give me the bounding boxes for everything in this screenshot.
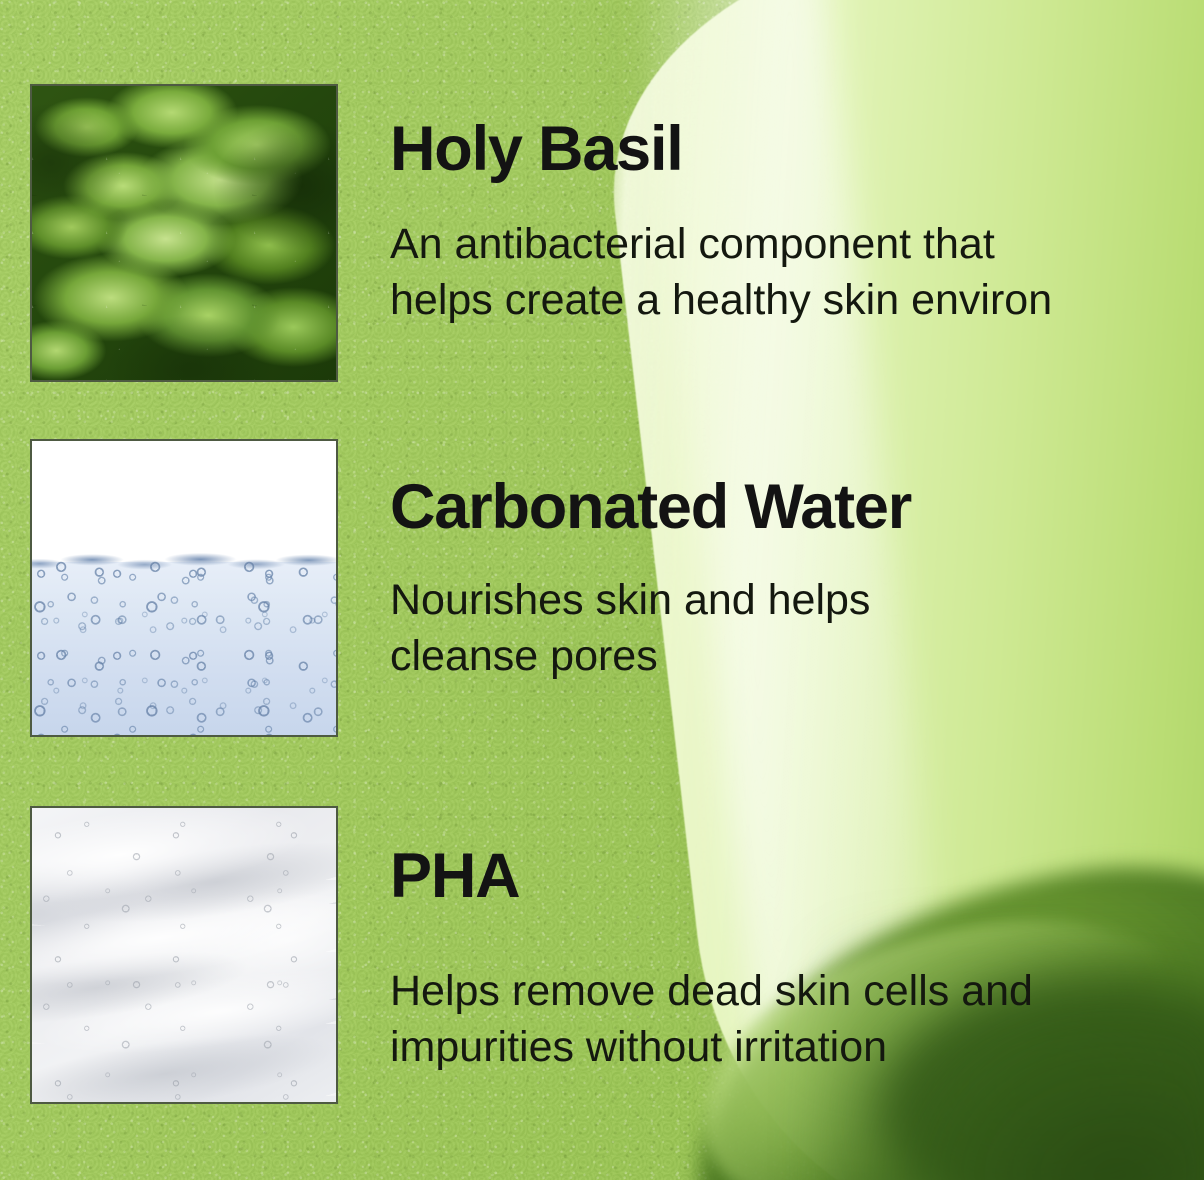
ingredient-desc-line-1: An antibacterial component that — [390, 217, 1052, 273]
ingredient-title-carbonated-water: Carbonated Water — [390, 476, 911, 539]
ingredient-image-holy-basil — [30, 84, 338, 382]
ingredient-text-holy-basil: Holy Basil An antibacterial component th… — [390, 118, 1052, 329]
ingredient-text-pha: PHA Helps remove dead skin cells and imp… — [390, 845, 1033, 1076]
ingredient-desc-line-1: Nourishes skin and helps — [390, 573, 911, 629]
ingredient-desc-line-2: cleanse pores — [390, 629, 911, 685]
basil-shadow-overlay — [32, 86, 336, 380]
water-bubbles — [32, 559, 336, 735]
ingredient-image-carbonated-water — [30, 439, 338, 737]
ingredient-infographic: Holy Basil An antibacterial component th… — [0, 0, 1204, 1180]
ingredient-desc-line-2: impurities without irritation — [390, 1020, 1033, 1076]
ingredient-text-carbonated-water: Carbonated Water Nourishes skin and help… — [390, 476, 911, 685]
ingredient-title-holy-basil: Holy Basil — [390, 118, 1052, 181]
ingredient-desc-line-2: helps create a healthy skin environ — [390, 273, 1052, 329]
gel-bubbles — [32, 808, 336, 1102]
ingredient-title-pha: PHA — [390, 845, 1033, 908]
ingredient-image-pha — [30, 806, 338, 1104]
ingredient-desc-line-1: Helps remove dead skin cells and — [390, 964, 1033, 1020]
